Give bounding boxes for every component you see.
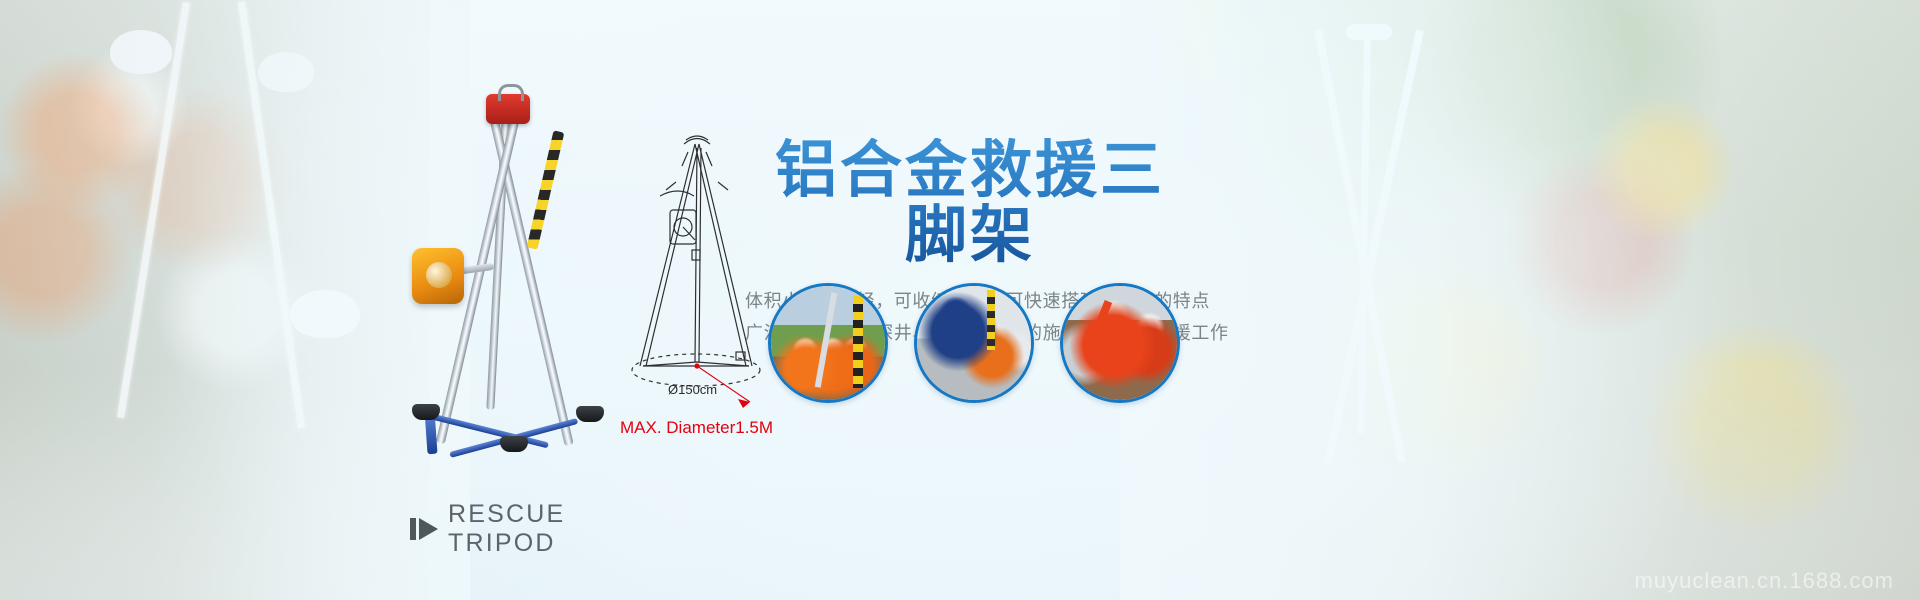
- tripod-right-leg-b: [1323, 29, 1424, 467]
- background-photo-left: [0, 0, 430, 600]
- thumb1-hazard-pole: [853, 296, 863, 388]
- diameter-dimension-label: Ø150cm: [668, 382, 717, 397]
- hazard-stripe-tape: [527, 130, 565, 249]
- helmet-white-2: [258, 52, 314, 92]
- helmet-yellow-right-1: [1160, 0, 1218, 42]
- product-label-rescue-tripod: RESCUE TRIPOD: [410, 500, 630, 558]
- tripod-foot-center: [500, 436, 528, 452]
- product-label-text: RESCUE TRIPOD: [448, 500, 630, 558]
- rescue-scene-left: [0, 0, 430, 600]
- thumbnail-gallery: [768, 283, 1180, 403]
- thumbnail-image-3: [1063, 286, 1177, 400]
- winch-unit: [412, 248, 464, 304]
- tripod-right: [1290, 20, 1550, 490]
- helmet-yellow-right-2: [1160, 42, 1214, 80]
- thumbnail-rescuer-signaling-at-manhole[interactable]: [1060, 283, 1180, 403]
- tripod-foot-left: [412, 404, 440, 420]
- helmet-white-3: [290, 290, 360, 338]
- thumb2-hazard-pole: [987, 290, 995, 350]
- thumbnail-workers-inspecting-equipment[interactable]: [914, 283, 1034, 403]
- product-photo-tripod: RESCUE TRIPOD: [390, 70, 630, 470]
- page-title: 铝合金救援三脚架: [745, 138, 1195, 268]
- tripod-right-head: [1346, 24, 1392, 40]
- tripod-head-assembly: [486, 94, 530, 124]
- helmet-white-1: [110, 30, 172, 74]
- rescue-scene-right: [1160, 0, 1920, 600]
- thumbnail-rescue-team-well-field[interactable]: [768, 283, 888, 403]
- pavement-gradient: [0, 420, 430, 600]
- thumbnail-image-2: [917, 286, 1031, 400]
- product-banner: RESCUE TRIPOD: [0, 0, 1920, 600]
- max-diameter-label: MAX. Diameter1.5M: [620, 418, 773, 438]
- background-photo-right: [1160, 0, 1920, 600]
- play-triangle-icon: [410, 518, 438, 540]
